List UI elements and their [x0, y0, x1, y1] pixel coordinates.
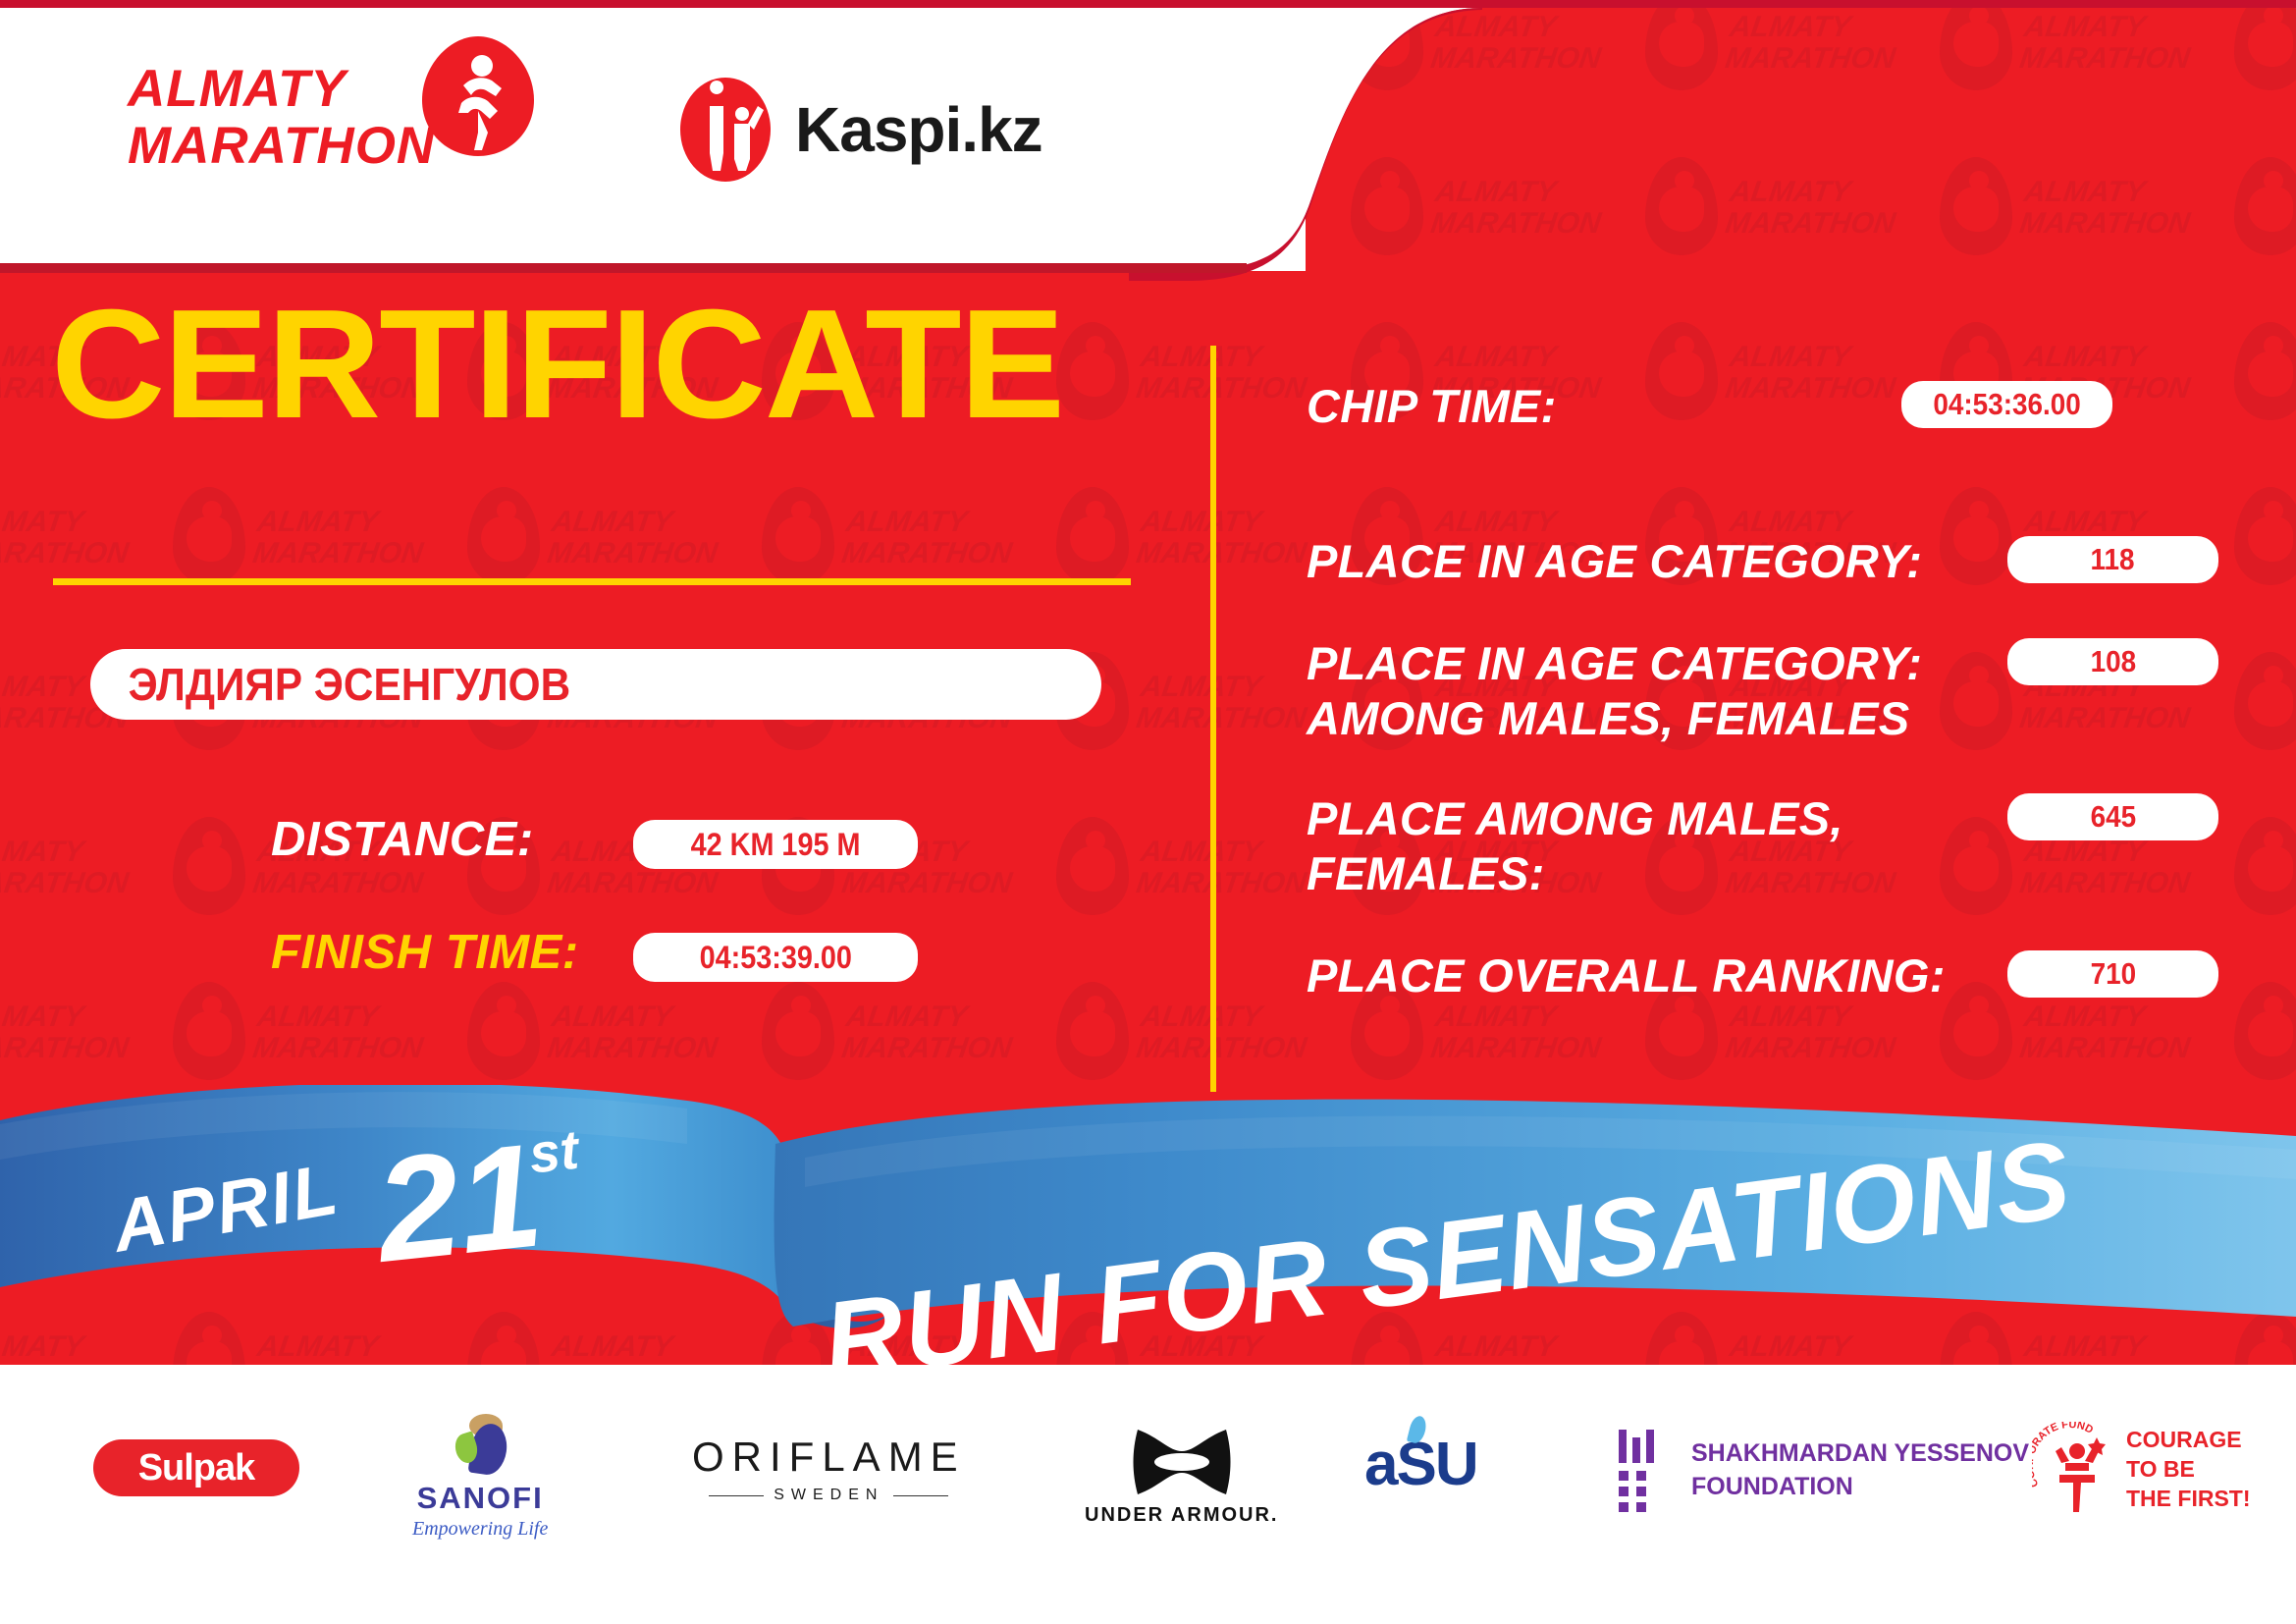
finish-time-value-pill: 04:53:39.00	[633, 933, 918, 982]
athlete-name-value: ЭЛДИЯР ЭСЕНГУЛОВ	[90, 658, 570, 711]
sponsor-under-armour: UNDER ARMOUR.	[1085, 1424, 1278, 1527]
under-armour-icon	[1118, 1424, 1246, 1500]
chip-time-value-pill: 04:53:36.00	[1901, 381, 2112, 428]
distance-value-pill: 42 KM 195 M	[633, 820, 918, 869]
kaspi-people-icon	[677, 77, 774, 183]
sulpak-logo: Sulpak	[93, 1439, 299, 1496]
logo-line-almaty: ALMATY	[128, 61, 347, 118]
place-gender-value: 645	[2090, 799, 2136, 835]
ribbon-day-suffix-text: st	[526, 1118, 583, 1185]
chip-time-label: CHIP TIME:	[1307, 379, 1557, 434]
age-category-gender-label: PLACE IN AGE CATEGORY: AMONG MALES, FEMA…	[1307, 636, 1922, 746]
finish-time-value: 04:53:39.00	[699, 940, 851, 976]
overall-ranking-value: 710	[2090, 956, 2136, 992]
sulpak-wordmark: Sulpak	[138, 1447, 255, 1489]
athlete-name-field: ЭЛДИЯР ЭСЕНГУЛОВ	[90, 649, 1101, 720]
distance-value: 42 KM 195 M	[691, 827, 861, 863]
event-ribbon: APRIL 21 st RUN FOR SENSATIONS	[0, 1085, 2296, 1409]
certificate-title: CERTIFICATE	[51, 291, 1063, 438]
age-category-gender-value: 108	[2090, 644, 2136, 679]
chip-time-value: 04:53:36.00	[1933, 387, 2080, 422]
top-red-rule	[0, 0, 2296, 8]
oriflame-wordmark: ORIFLAME	[692, 1434, 966, 1481]
oriflame-rule-left	[709, 1495, 764, 1496]
header-curve-shape	[1129, 0, 1482, 285]
place-gender-value-pill: 645	[2007, 793, 2218, 840]
sanofi-mark-icon	[448, 1414, 512, 1475]
ribbon-day-text: 21	[366, 1111, 549, 1293]
sponsor-sulpak: Sulpak	[93, 1439, 299, 1496]
finish-time-row: FINISH TIME: 04:53:39.00	[0, 919, 1217, 998]
under-armour-wordmark: UNDER ARMOUR.	[1085, 1504, 1278, 1527]
title-underline-rule	[53, 578, 1131, 585]
distance-label: DISTANCE:	[271, 812, 534, 867]
overall-ranking-label: PLACE OVERALL RANKING:	[1307, 948, 1946, 1003]
finish-time-label: FINISH TIME:	[271, 925, 579, 980]
asu-wordmark: aSU	[1364, 1430, 1477, 1499]
place-gender-label: PLACE AMONG MALES, FEMALES:	[1307, 791, 1843, 901]
distance-row: DISTANCE: 42 KM 195 M	[0, 806, 1217, 885]
certificate-page: ALMATYMARATHONALMATYMARATHONALMATYMARATH…	[0, 0, 2296, 1624]
yessenov-mark-icon	[1615, 1428, 1670, 1512]
age-category-value: 118	[2091, 542, 2135, 577]
oriflame-rule-right	[893, 1495, 948, 1496]
age-category-gender-value-pill: 108	[2007, 638, 2218, 685]
overall-ranking-value-pill: 710	[2007, 950, 2218, 998]
sanofi-tagline: Empowering Life	[412, 1518, 548, 1541]
yessenov-wordmark: SHAKHMARDAN YESSENOV FOUNDATION	[1691, 1436, 2029, 1503]
sponsor-strip: Sulpak SANOFI Empowering Life ORIFLAME S…	[0, 1412, 2296, 1589]
sponsor-yessenov-foundation: SHAKHMARDAN YESSENOV FOUNDATION	[1615, 1428, 2029, 1512]
courage-fund-wordmark: COURAGE TO BE THE FIRST!	[2126, 1425, 2251, 1513]
almaty-marathon-logo: ALMATY MARATHON	[128, 61, 540, 175]
sanofi-wordmark: SANOFI	[417, 1481, 544, 1516]
logo-line-marathon: MARATHON	[128, 118, 435, 175]
oriflame-tagline: SWEDEN	[774, 1487, 883, 1504]
asu-wordmark-text: aSU	[1364, 1431, 1477, 1498]
courage-fund-icon: CORPORATE FUND	[2032, 1422, 2116, 1516]
sponsor-asu: aSU	[1364, 1430, 1477, 1499]
age-category-value-pill: 118	[2007, 536, 2218, 583]
sponsor-sanofi: SANOFI Empowering Life	[412, 1414, 548, 1541]
sponsor-oriflame: ORIFLAME SWEDEN	[692, 1434, 966, 1504]
age-category-label: PLACE IN AGE CATEGORY:	[1307, 534, 1922, 589]
kaspi-logo: Kaspi.kz	[677, 77, 1042, 183]
kaspi-wordmark: Kaspi.kz	[795, 93, 1042, 166]
runner-drop-icon	[417, 34, 540, 162]
header-dark-edge	[0, 263, 1247, 273]
sponsor-courage-fund: CORPORATE FUND COURAGE TO BE THE FIRST!	[2032, 1422, 2251, 1516]
